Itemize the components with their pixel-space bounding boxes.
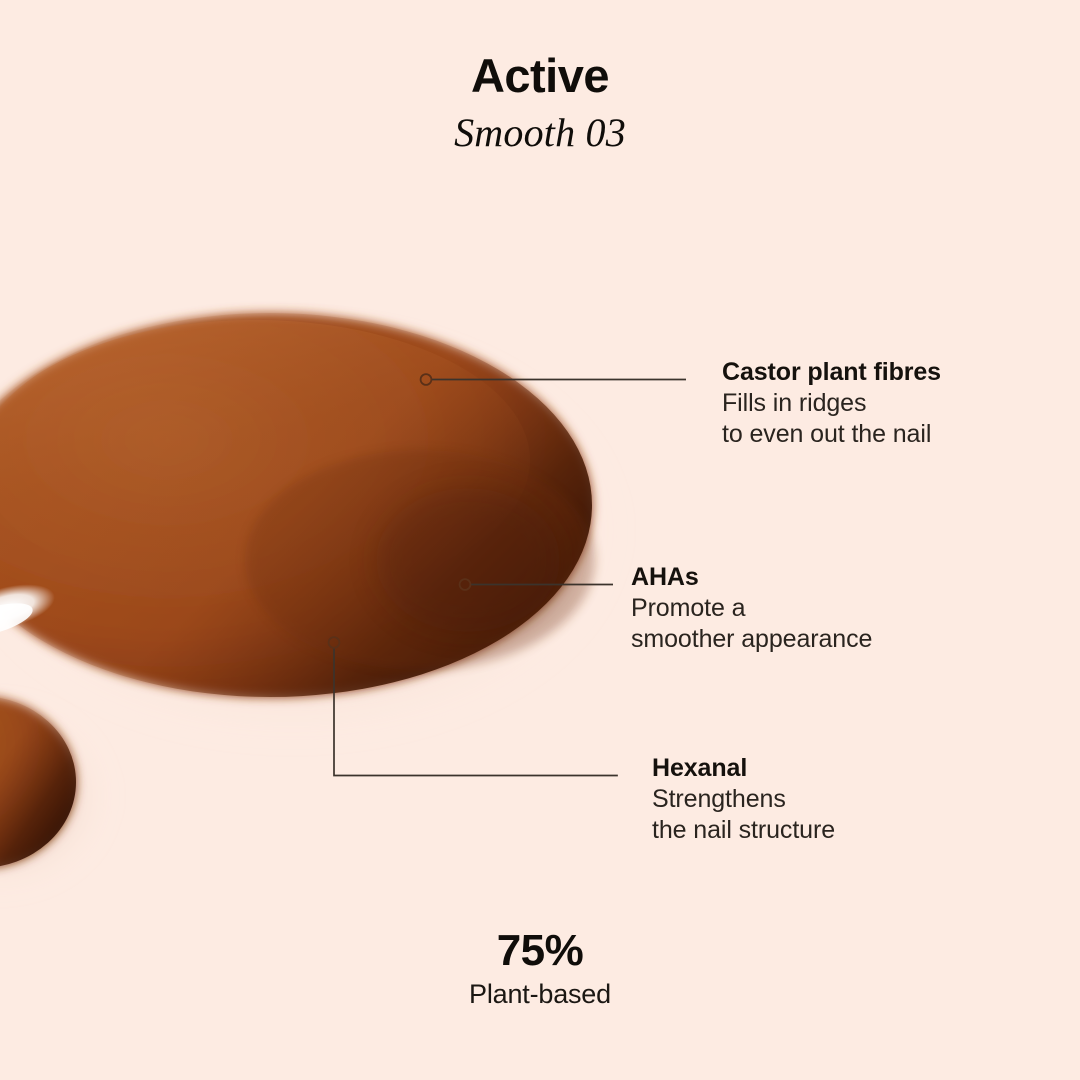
callout-ahas-line-2: smoother appearance [631,624,872,655]
callout-castor-line-2: to even out the nail [722,419,941,450]
callout-hexanal-line-2: the nail structure [652,815,835,846]
stat-label: Plant-based [0,980,1080,1010]
callout-ahas-title: AHAs [631,562,872,593]
callout-hexanal-line-1: Strengthens [652,784,835,815]
leader-marker-castor [421,374,432,385]
callout-hexanal-title: Hexanal [652,753,835,784]
stat-value: 75% [0,928,1080,974]
leader-line-castor [421,374,686,385]
callout-castor-line-1: Fills in ridges [722,388,941,419]
callout-castor-title: Castor plant fibres [722,357,941,388]
infographic-canvas: Active Smooth 03 Castor plant fibres Fil… [0,0,1080,1080]
callout-castor: Castor plant fibres Fills in ridges to e… [722,357,941,450]
callout-hexanal: Hexanal Strengthens the nail structure [652,753,835,846]
annotation-leader-lines [0,0,1080,1080]
leader-marker-ahas [460,579,471,590]
leader-line-hexanal [329,637,617,775]
leader-marker-hexanal [329,637,340,648]
leader-line-ahas [460,579,613,590]
callout-ahas-line-1: Promote a [631,593,872,624]
footer-stat: 75% Plant-based [0,928,1080,1010]
callout-ahas: AHAs Promote a smoother appearance [631,562,872,655]
